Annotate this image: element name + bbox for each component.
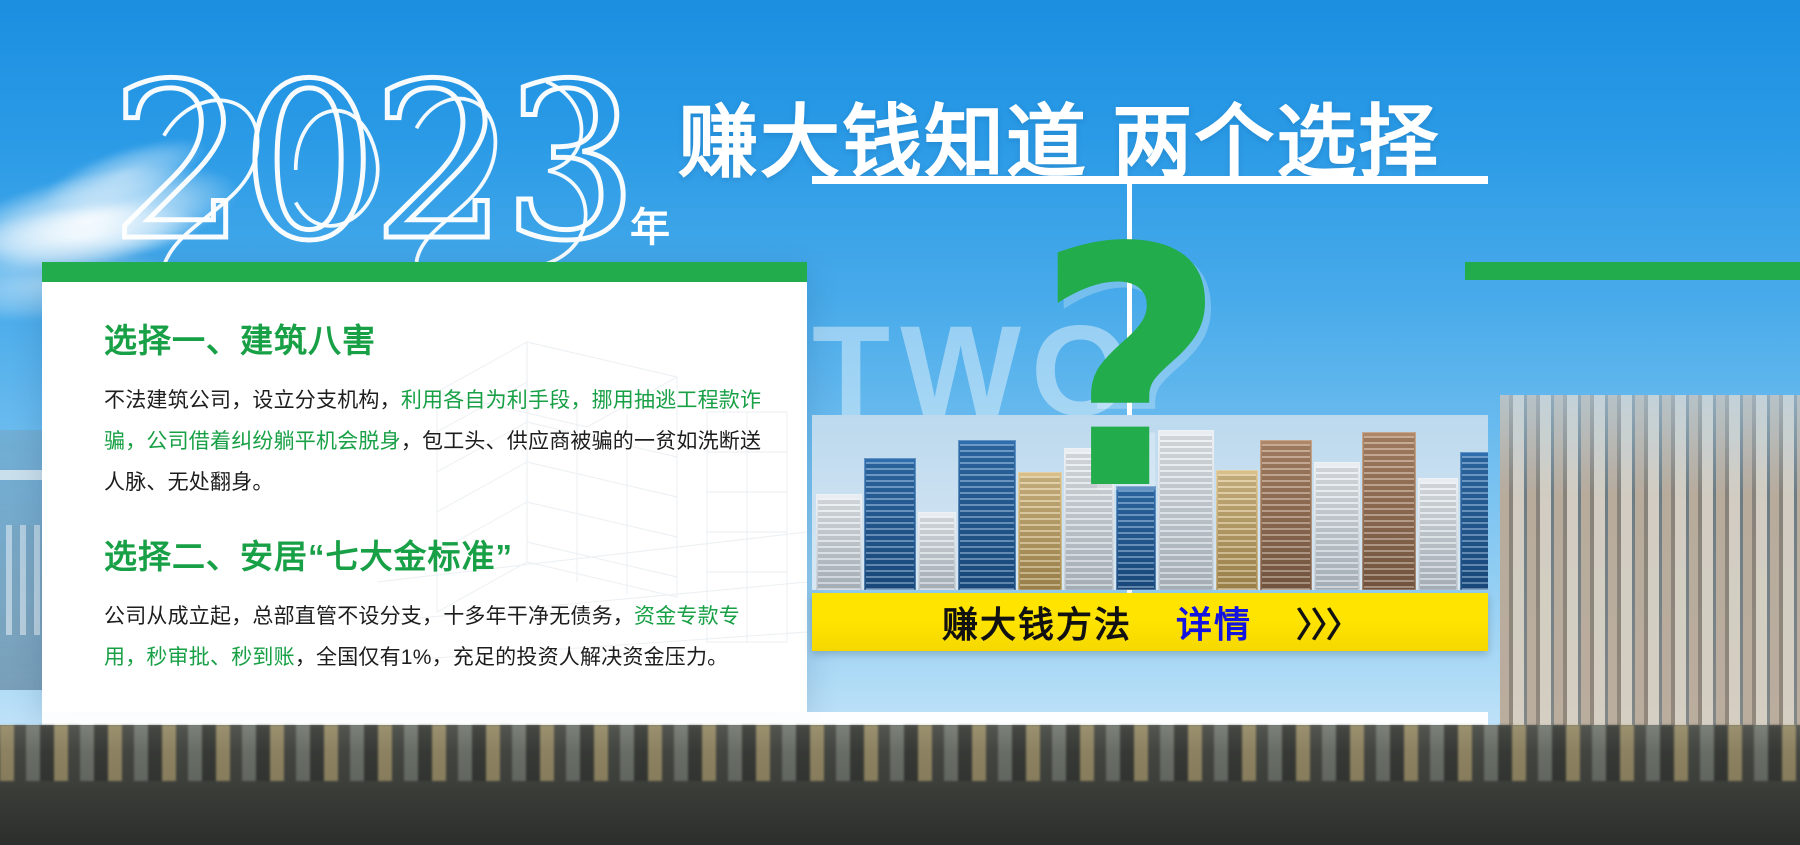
poster-stage: 2023 年 赚大钱知道 两个选择 — [0, 0, 1800, 845]
section-two-title: 选择二、安居“七大金标准” — [104, 530, 777, 578]
year-suffix-label: 年 — [630, 195, 670, 253]
waterfront-foreground — [0, 725, 1800, 845]
card-top-green-bar — [42, 262, 807, 282]
section-one: 选择一、建筑八害 不法建筑公司，设立分支机构，利用各自为利手段，挪用抽逃工程款诈… — [104, 314, 777, 503]
right-green-accent-bar — [1465, 262, 1800, 280]
question-mark-icon: ? — [1035, 205, 1226, 535]
section-two-text-part-1: 公司从成立起，总部直管不设分支，十多年干净无债务， — [104, 605, 634, 628]
cta-banner[interactable]: 赚大钱方法 详情 〉〉〉 — [812, 593, 1488, 651]
section-one-text-part-1: 不法建筑公司，设立分支机构， — [104, 389, 401, 412]
city-photo-right-edge — [1500, 395, 1800, 725]
cta-main-label: 赚大钱方法 — [942, 596, 1132, 648]
section-two-text-part-3: ，全国仅有1%，充足的投资人解决资金压力。 — [295, 646, 729, 669]
section-one-title: 选择一、建筑八害 — [104, 314, 777, 362]
chevron-right-triple-icon: 〉〉〉 — [1296, 598, 1358, 647]
section-one-paragraph: 不法建筑公司，设立分支机构，利用各自为利手段，挪用抽逃工程款诈骗，公司借着纠纷躺… — [104, 380, 776, 503]
content-card: 选择一、建筑八害 不法建筑公司，设立分支机构，利用各自为利手段，挪用抽逃工程款诈… — [42, 262, 807, 712]
section-two-paragraph: 公司从成立起，总部直管不设分支，十多年干净无债务，资金专款专用，秒审批、秒到账，… — [104, 596, 776, 678]
cta-detail-link[interactable]: 详情 — [1176, 596, 1252, 648]
year-numerals: 2023 — [110, 55, 633, 270]
section-two: 选择二、安居“七大金标准” 公司从成立起，总部直管不设分支，十多年干净无债务，资… — [104, 530, 777, 678]
